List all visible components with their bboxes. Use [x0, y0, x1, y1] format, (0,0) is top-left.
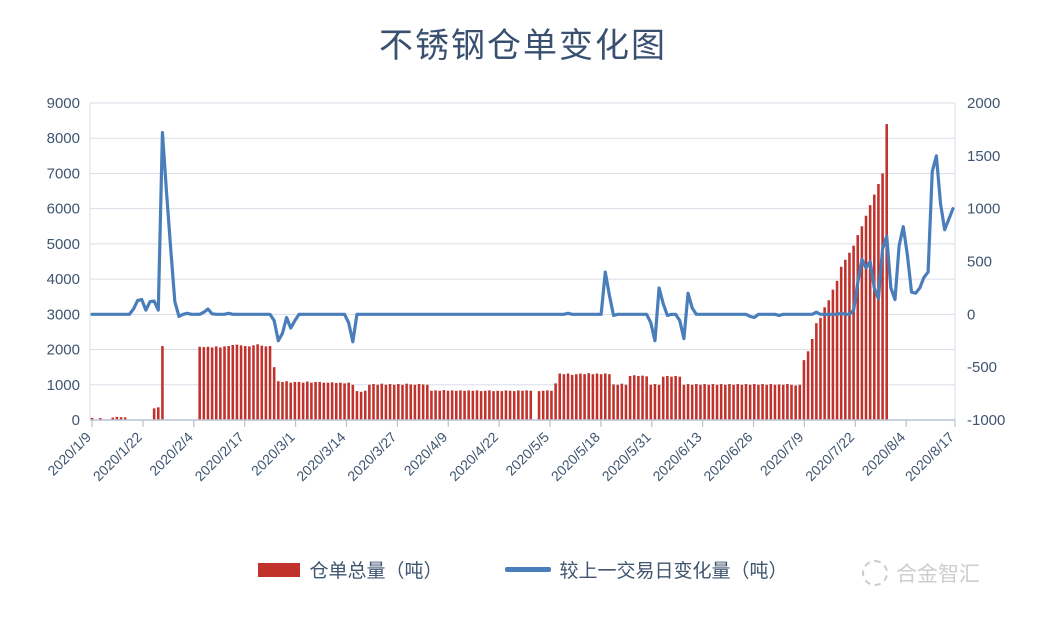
- bar-swatch-icon: [258, 563, 300, 577]
- svg-text:2020/3/14: 2020/3/14: [293, 429, 349, 485]
- svg-text:2020/3/1: 2020/3/1: [248, 429, 298, 479]
- legend-label-daily-change: 较上一交易日变化量（吨）: [560, 556, 788, 583]
- svg-text:0: 0: [72, 412, 80, 429]
- svg-text:2020/6/13: 2020/6/13: [649, 429, 705, 485]
- svg-text:1000: 1000: [967, 201, 1000, 218]
- svg-text:2020/1/9: 2020/1/9: [44, 429, 94, 479]
- svg-text:1500: 1500: [967, 148, 1000, 165]
- svg-text:2020/7/9: 2020/7/9: [757, 429, 807, 479]
- svg-text:9000: 9000: [47, 95, 80, 112]
- legend-item-daily-change[interactable]: 较上一交易日变化量（吨）: [505, 556, 788, 583]
- circle-logo-icon: [862, 560, 888, 586]
- svg-text:2020/7/22: 2020/7/22: [802, 429, 858, 485]
- svg-text:4000: 4000: [47, 271, 80, 288]
- svg-text:6000: 6000: [47, 201, 80, 218]
- svg-text:5000: 5000: [47, 236, 80, 253]
- chart-container: 不锈钢仓单变化图 0100020003000400050006000700080…: [0, 0, 1046, 629]
- svg-text:500: 500: [967, 254, 992, 271]
- bar-series-warehouse-total: [91, 124, 888, 420]
- legend-label-warehouse-total: 仓单总量（吨）: [309, 556, 442, 583]
- svg-text:-1000: -1000: [967, 412, 1005, 429]
- svg-text:2020/8/17: 2020/8/17: [902, 429, 958, 485]
- svg-text:0: 0: [967, 306, 975, 323]
- watermark: 合金智汇: [862, 558, 980, 588]
- legend-item-warehouse-total[interactable]: 仓单总量（吨）: [258, 556, 442, 583]
- svg-text:2020/4/9: 2020/4/9: [401, 429, 451, 479]
- svg-text:2020/3/27: 2020/3/27: [344, 429, 400, 485]
- y-axis-right-ticks: -1000-5000500100015002000: [967, 95, 1005, 429]
- svg-text:2020/4/22: 2020/4/22: [446, 429, 502, 485]
- svg-text:3000: 3000: [47, 306, 80, 323]
- svg-text:2000: 2000: [47, 342, 80, 359]
- x-axis: [90, 420, 955, 427]
- svg-text:2020/8/4: 2020/8/4: [858, 429, 908, 479]
- svg-text:7000: 7000: [47, 165, 80, 182]
- line-swatch-icon: [505, 567, 551, 572]
- x-axis-ticks: 2020/1/92020/1/222020/2/42020/2/172020/3…: [44, 429, 957, 485]
- svg-text:2020/2/4: 2020/2/4: [146, 429, 196, 479]
- svg-text:-500: -500: [967, 359, 997, 376]
- chart-plot-area: 0100020003000400050006000700080009000 -1…: [0, 0, 1046, 629]
- svg-text:2020/6/26: 2020/6/26: [700, 429, 756, 485]
- watermark-text: 合金智汇: [896, 558, 980, 588]
- svg-text:8000: 8000: [47, 130, 80, 147]
- svg-text:1000: 1000: [47, 377, 80, 394]
- svg-text:2000: 2000: [967, 95, 1000, 112]
- y-axis-left-ticks: 0100020003000400050006000700080009000: [47, 95, 80, 429]
- svg-text:2020/5/31: 2020/5/31: [599, 429, 655, 485]
- svg-text:2020/5/5: 2020/5/5: [502, 429, 552, 479]
- svg-text:2020/5/18: 2020/5/18: [548, 429, 604, 485]
- svg-text:2020/2/17: 2020/2/17: [191, 429, 247, 485]
- svg-text:2020/1/22: 2020/1/22: [90, 429, 146, 485]
